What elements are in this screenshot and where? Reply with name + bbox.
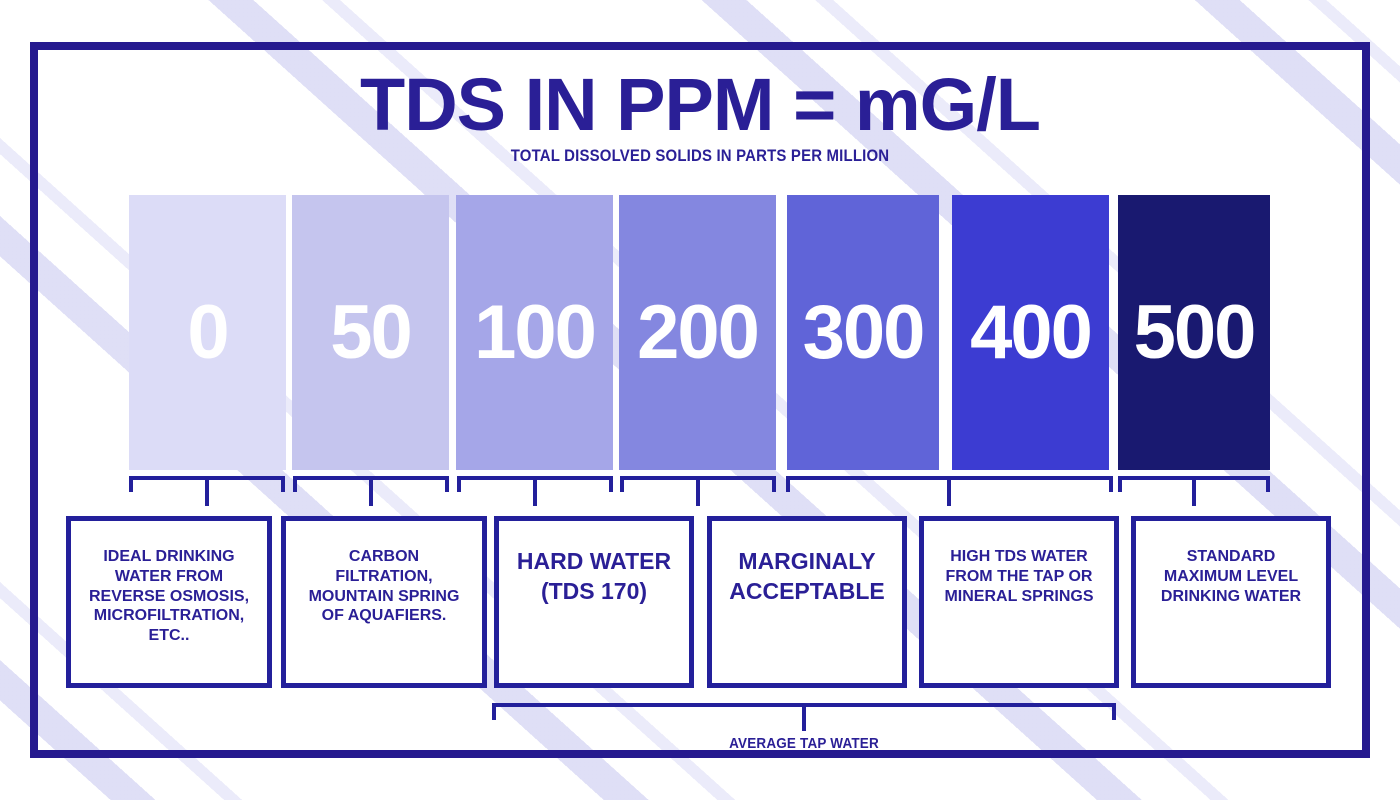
tds-bar-label: 400	[970, 295, 1091, 371]
page-title: TDS IN PPM = mG/L	[0, 68, 1400, 142]
tds-bar-label: 100	[474, 295, 595, 371]
bracket-tick-center	[696, 476, 700, 506]
tds-bar-300: 300	[787, 195, 939, 470]
tds-bar-200: 200	[619, 195, 776, 470]
description-box-1: IDEAL DRINKING WATER FROM REVERSE OSMOSI…	[66, 516, 272, 688]
range-bracket-3	[457, 476, 613, 512]
bracket-tick-left	[293, 476, 297, 492]
tds-bar-100: 100	[456, 195, 613, 470]
description-box-row: IDEAL DRINKING WATER FROM REVERSE OSMOSI…	[0, 516, 1400, 688]
description-text: STANDARD MAXIMUM LEVEL DRINKING WATER	[1161, 547, 1301, 683]
bracket-tick-left	[129, 476, 133, 492]
bracket-tick-left	[1118, 476, 1122, 492]
description-box-4: MARGINALY ACCEPTABLE	[707, 516, 907, 688]
description-text: IDEAL DRINKING WATER FROM REVERSE OSMOSI…	[89, 547, 249, 683]
description-box-6: STANDARD MAXIMUM LEVEL DRINKING WATER	[1131, 516, 1331, 688]
range-bracket-1	[129, 476, 285, 512]
tds-color-scale: 050100200300400500	[0, 195, 1400, 470]
tds-bar-500: 500	[1118, 195, 1270, 470]
range-bracket-6	[1118, 476, 1270, 512]
bracket-tick-left	[457, 476, 461, 492]
tds-scale-infographic: TDS IN PPM = mG/L TOTAL DISSOLVED SOLIDS…	[0, 0, 1400, 800]
bracket-tick-right	[1109, 476, 1113, 492]
bracket-tick-right	[281, 476, 285, 492]
tds-bar-label: 0	[187, 295, 227, 371]
bracket-tick-right	[1266, 476, 1270, 492]
bracket-tick-center	[1192, 476, 1196, 506]
description-text: HIGH TDS WATER FROM THE TAP OR MINERAL S…	[944, 547, 1093, 683]
bracket-tick-right	[1112, 703, 1116, 720]
tds-bar-0: 0	[129, 195, 286, 470]
bracket-tick-right	[445, 476, 449, 492]
bracket-tick-left	[492, 703, 496, 720]
bracket-tick-center	[947, 476, 951, 506]
bracket-tick-center	[533, 476, 537, 506]
tds-bar-label: 300	[803, 295, 924, 371]
tds-bar-label: 50	[330, 295, 411, 371]
bracket-tick-center	[369, 476, 373, 506]
bracket-row	[0, 476, 1400, 512]
range-bracket-4	[620, 476, 776, 512]
bracket-tick-right	[772, 476, 776, 492]
tds-bar-400: 400	[952, 195, 1109, 470]
bracket-tick-center	[802, 703, 806, 731]
average-tap-water-label: AVERAGE TAP WATER	[523, 735, 1085, 752]
tds-bar-label: 500	[1134, 295, 1255, 371]
bracket-tick-left	[786, 476, 790, 492]
average-tap-water-bracket	[492, 703, 1116, 737]
tds-bar-label: 200	[637, 295, 758, 371]
bracket-tick-left	[620, 476, 624, 492]
bracket-tick-right	[609, 476, 613, 492]
page-subtitle: TOTAL DISSOLVED SOLIDS IN PARTS PER MILL…	[84, 146, 1316, 166]
range-bracket-2	[293, 476, 449, 512]
description-box-3: HARD WATER (TDS 170)	[494, 516, 694, 688]
description-box-5: HIGH TDS WATER FROM THE TAP OR MINERAL S…	[919, 516, 1119, 688]
tds-bar-50: 50	[292, 195, 449, 470]
bracket-tick-center	[205, 476, 209, 506]
description-text: MARGINALY ACCEPTABLE	[729, 547, 884, 683]
description-box-2: CARBON FILTRATION, MOUNTAIN SPRING OF AQ…	[281, 516, 487, 688]
range-bracket-5	[786, 476, 1113, 512]
description-text: HARD WATER (TDS 170)	[517, 547, 671, 683]
description-text: CARBON FILTRATION, MOUNTAIN SPRING OF AQ…	[309, 547, 460, 683]
